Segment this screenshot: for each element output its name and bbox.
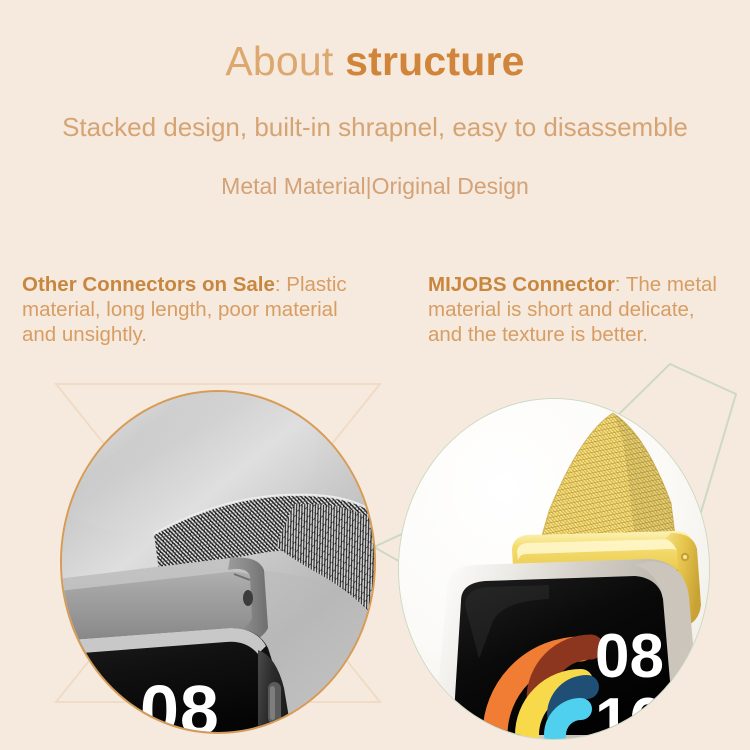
page-title: About structure xyxy=(0,40,750,83)
photo-mijobs-connector: 08 16 xyxy=(398,398,710,740)
svg-text:16: 16 xyxy=(595,686,664,739)
photo-left-illustration: 08 xyxy=(62,392,374,732)
caption-mijobs-connector: MIJOBS Connector: The metal material is … xyxy=(428,272,728,347)
caption-other-connectors: Other Connectors on Sale: Plastic materi… xyxy=(22,272,372,347)
subtitle-secondary: Metal Material|Original Design xyxy=(0,173,750,200)
svg-text:08: 08 xyxy=(140,671,220,732)
svg-text:08: 08 xyxy=(595,622,664,691)
caption-right-lead: MIJOBS Connector xyxy=(428,273,615,296)
caption-left-lead: Other Connectors on Sale xyxy=(22,273,275,296)
photo-other-connector: 08 xyxy=(60,390,376,734)
header: About structure Stacked design, built-in… xyxy=(0,0,750,200)
page-title-light: About xyxy=(225,38,345,84)
subtitle-primary: Stacked design, built-in shrapnel, easy … xyxy=(0,112,750,143)
page-title-bold: structure xyxy=(345,38,525,84)
comparison-captions: Other Connectors on Sale: Plastic materi… xyxy=(0,272,750,392)
photo-right-illustration: 08 16 xyxy=(399,399,709,739)
